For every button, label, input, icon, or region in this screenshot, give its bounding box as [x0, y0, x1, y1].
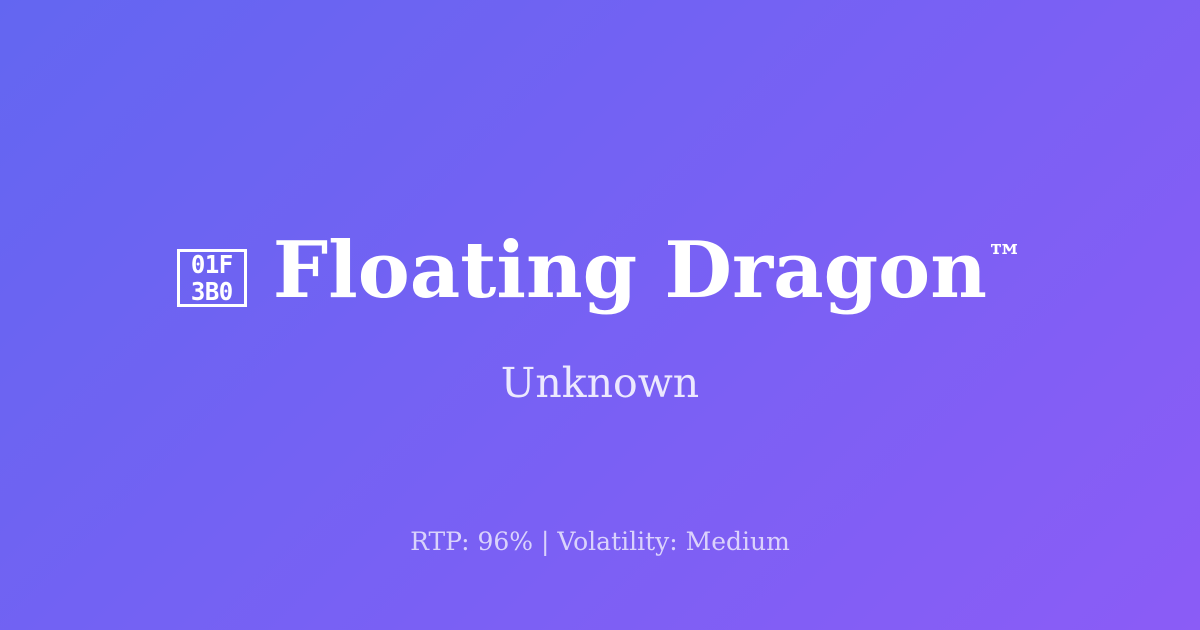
slot-machine-icon: 01F 3B0	[177, 249, 247, 307]
page-title: Floating Dragon™	[273, 232, 1024, 310]
game-title-row: 01F 3B0 Floating Dragon™	[0, 232, 1200, 310]
missing-glyph-codepoint-low: 3B0	[191, 278, 233, 305]
missing-glyph-codepoint: 01F 3B0	[180, 252, 244, 304]
game-stats-footer: RTP: 96% | Volatility: Medium	[0, 529, 1200, 554]
trademark-symbol: ™	[987, 237, 1023, 279]
page-title-text: Floating Dragon	[273, 225, 987, 316]
og-preview-card: 01F 3B0 Floating Dragon™ Unknown RTP: 96…	[0, 0, 1200, 630]
missing-glyph-codepoint-high: 01F	[191, 251, 233, 278]
game-provider-subtitle: Unknown	[0, 363, 1200, 404]
